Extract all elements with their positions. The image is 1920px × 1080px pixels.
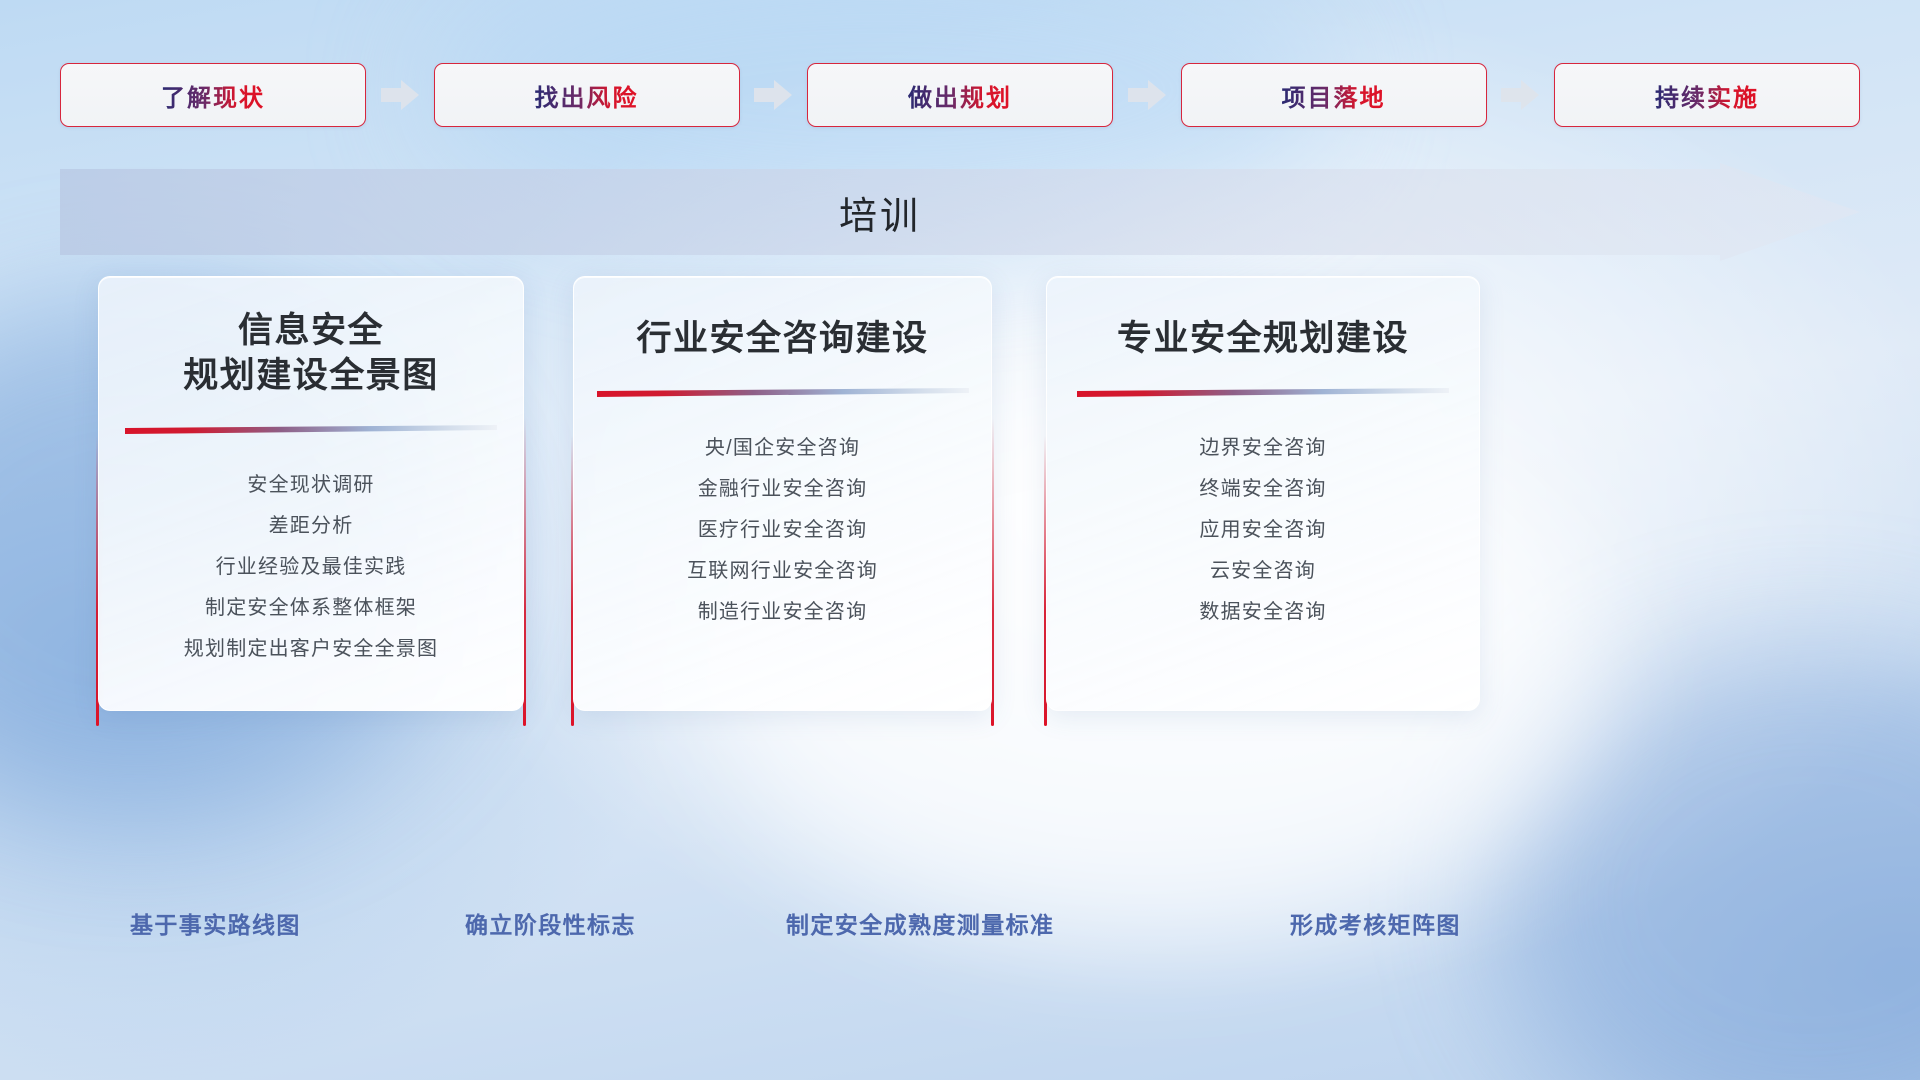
- process-step-2[interactable]: 找出风险: [434, 63, 740, 127]
- list-item: 制定安全体系整体框架: [205, 588, 417, 629]
- list-item: 金融行业安全咨询: [698, 469, 868, 510]
- list-item: 医疗行业安全咨询: [698, 510, 868, 551]
- list-item: 央/国企安全咨询: [705, 428, 860, 469]
- bottom-label-4: 形成考核矩阵图: [1290, 906, 1461, 940]
- arrow-right-icon: [752, 78, 794, 112]
- training-banner-label: 培训: [60, 163, 1700, 261]
- list-item: 规划制定出客户安全全景图: [184, 629, 438, 670]
- process-step-3-label: 做出规划: [908, 78, 1012, 113]
- gradient-divider-icon: [125, 425, 497, 435]
- card-wrapper-3: 专业安全规划建设: [1040, 276, 1480, 716]
- list-item: 终端安全咨询: [1199, 469, 1326, 510]
- card-1-title: 信息安全 规划建设全景图: [183, 309, 439, 399]
- process-step-5[interactable]: 持续实施: [1554, 63, 1860, 127]
- list-item: 安全现状调研: [247, 465, 374, 506]
- card-2-list: 央/国企安全咨询 金融行业安全咨询 医疗行业安全咨询 互联网行业安全咨询 制造行…: [687, 428, 878, 633]
- list-item: 应用安全咨询: [1199, 510, 1326, 551]
- process-step-4-label: 项目落地: [1282, 78, 1386, 113]
- slide-canvas: 了解现状 找出风险 做出规划 项目落地: [0, 0, 1920, 1080]
- arrow-right-icon: [1126, 78, 1168, 112]
- process-step-1-label: 了解现状: [161, 78, 265, 113]
- bottom-label-3: 制定安全成熟度测量标准: [786, 906, 1054, 940]
- list-item: 差距分析: [269, 506, 354, 547]
- list-item: 行业经验及最佳实践: [216, 547, 407, 588]
- card-wrapper-2: 行业安全咨询建设: [567, 276, 992, 716]
- process-step-row: 了解现状 找出风险 做出规划 项目落地: [60, 62, 1860, 128]
- bottom-label-1: 基于事实路线图: [130, 906, 301, 940]
- card-1[interactable]: 信息安全 规划建设全景图: [98, 276, 524, 711]
- process-step-1[interactable]: 了解现状: [60, 63, 366, 127]
- bottom-label-row: 基于事实路线图 确立阶段性标志 制定安全成熟度测量标准 形成考核矩阵图: [0, 906, 1920, 946]
- card-2-title: 行业安全咨询建设: [636, 317, 928, 362]
- list-item: 数据安全咨询: [1199, 592, 1326, 633]
- gradient-divider-icon: [597, 388, 969, 398]
- card-3[interactable]: 专业安全规划建设: [1046, 276, 1480, 711]
- arrow-right-icon: [1499, 78, 1541, 112]
- process-step-3[interactable]: 做出规划: [807, 63, 1113, 127]
- process-step-2-label: 找出风险: [535, 78, 639, 113]
- process-step-4[interactable]: 项目落地: [1181, 63, 1487, 127]
- list-item: 制造行业安全咨询: [698, 592, 868, 633]
- arrow-right-icon: [379, 78, 421, 112]
- training-banner: 培训: [60, 163, 1860, 261]
- card-1-list: 安全现状调研 差距分析 行业经验及最佳实践 制定安全体系整体框架 规划制定出客户…: [184, 465, 438, 670]
- list-item: 互联网行业安全咨询: [687, 551, 878, 592]
- card-2[interactable]: 行业安全咨询建设: [573, 276, 992, 711]
- bottom-label-2: 确立阶段性标志: [465, 906, 636, 940]
- card-wrapper-1: 信息安全 规划建设全景图: [92, 276, 524, 716]
- list-item: 云安全咨询: [1210, 551, 1316, 592]
- process-step-5-label: 持续实施: [1655, 78, 1759, 113]
- card-row: 信息安全 规划建设全景图: [92, 276, 1844, 716]
- card-3-list: 边界安全咨询 终端安全咨询 应用安全咨询 云安全咨询 数据安全咨询: [1199, 428, 1326, 633]
- gradient-divider-icon: [1077, 388, 1449, 398]
- card-3-title: 专业安全规划建设: [1117, 317, 1409, 362]
- list-item: 边界安全咨询: [1199, 428, 1326, 469]
